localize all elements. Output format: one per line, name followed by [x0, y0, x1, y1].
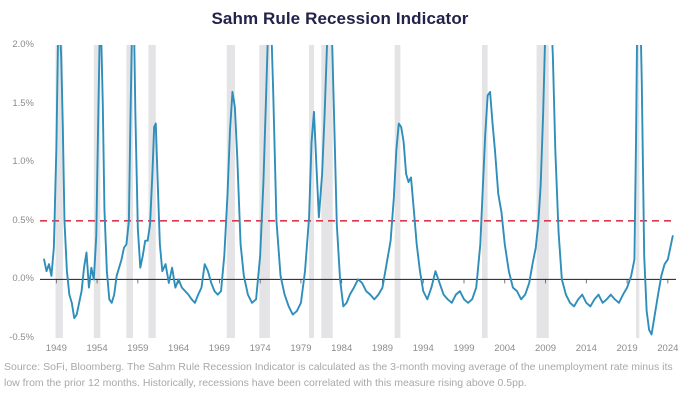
x-axis-tick-label: 1999 — [444, 343, 484, 354]
x-axis-tick-label: 1979 — [281, 343, 321, 354]
x-axis-tick-label: 1959 — [118, 343, 158, 354]
y-axis-tick-label: 2.0% — [0, 39, 34, 50]
x-axis-tick-label: 1964 — [159, 343, 199, 354]
x-axis-tick-label: 1994 — [403, 343, 443, 354]
y-axis-tick-label: -0.5% — [0, 332, 34, 343]
y-axis-tick-label: 0.5% — [0, 215, 34, 226]
x-axis-tick-label: 2004 — [485, 343, 525, 354]
recession-band — [537, 45, 549, 338]
x-axis-tick-label: 1954 — [77, 343, 117, 354]
x-axis-tick-label: 2014 — [566, 343, 606, 354]
recession-band — [321, 45, 332, 338]
x-axis-tick-label: 1949 — [36, 343, 76, 354]
x-axis-tick-label: 1989 — [362, 343, 402, 354]
y-axis-tick-label: 1.5% — [0, 98, 34, 109]
x-axis-tick-label: 1984 — [322, 343, 362, 354]
x-axis-tick-label: 2024 — [648, 343, 680, 354]
series-line-sahm-rule — [44, 0, 673, 334]
x-axis-tick-label: 2019 — [607, 343, 647, 354]
chart-container: Sahm Rule Recession Indicator 2.0%1.5%1.… — [0, 0, 680, 408]
recession-band — [395, 45, 401, 338]
x-axis-tick-label: 1974 — [240, 343, 280, 354]
y-axis-tick-label: 0.0% — [0, 273, 34, 284]
chart-footnote: Source: SoFi, Bloomberg. The Sahm Rule R… — [4, 360, 676, 391]
y-axis-tick-label: 1.0% — [0, 156, 34, 167]
x-axis-tick-label: 2009 — [526, 343, 566, 354]
recession-bands-group — [55, 45, 639, 338]
x-axis-tick-label: 1969 — [199, 343, 239, 354]
recession-band — [259, 45, 270, 338]
